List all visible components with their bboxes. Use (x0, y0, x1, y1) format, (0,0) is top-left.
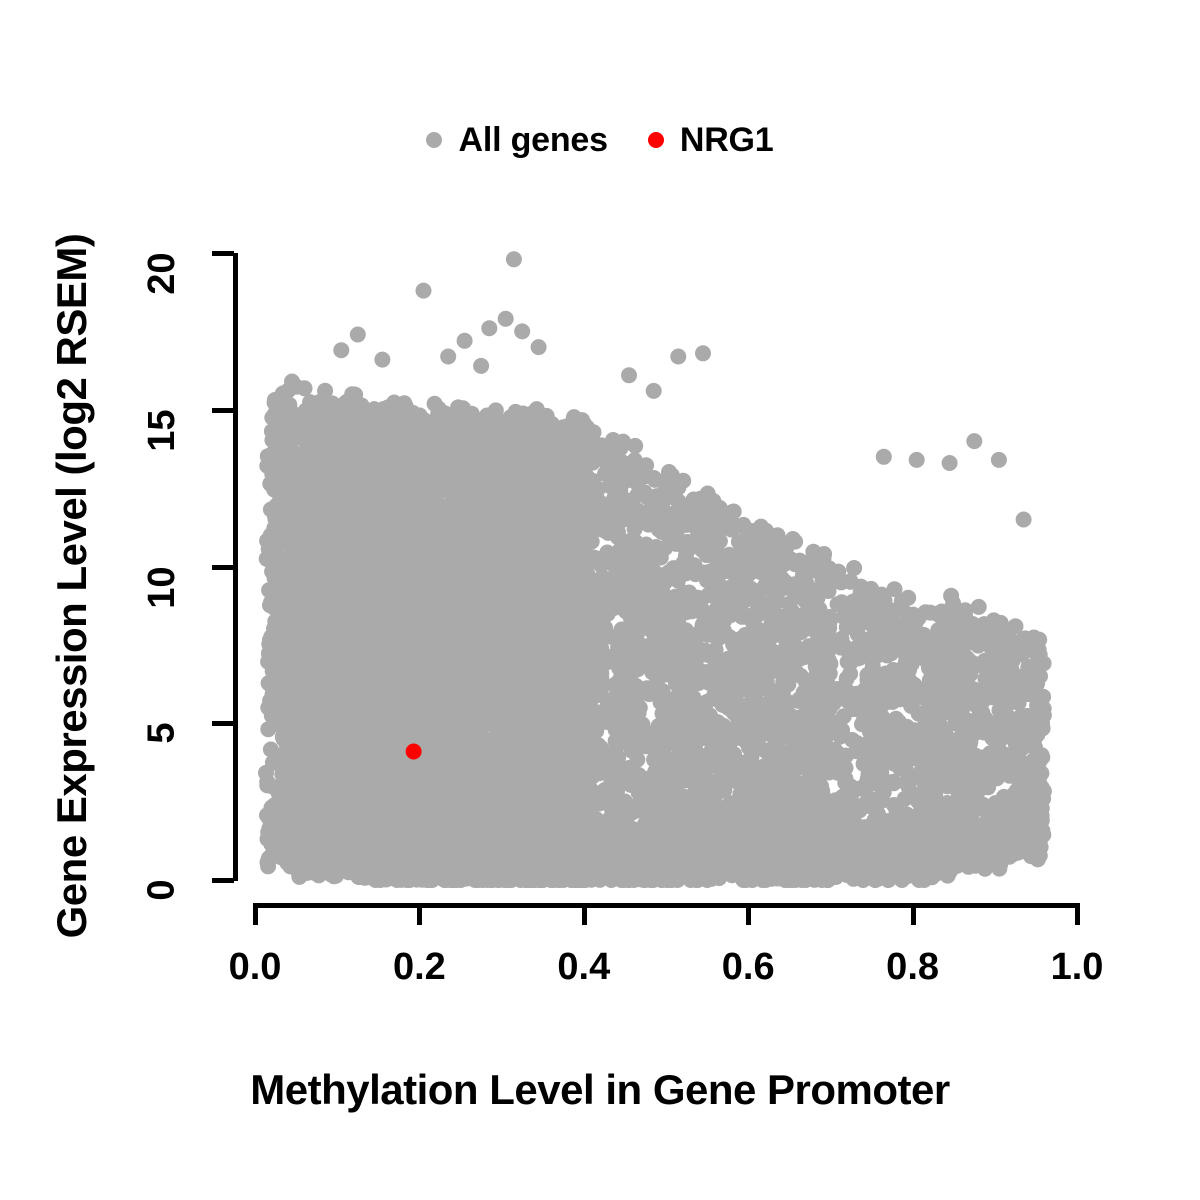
scatter-point-all-genes (627, 438, 643, 454)
plot-region: 05101520 0.00.20.40.60.81.0 Methylation … (0, 0, 1200, 1200)
scatter-point-all-genes (787, 534, 803, 550)
plot-canvas (255, 245, 1077, 890)
scatter-plot-figure: All genes NRG1 05101520 0.00.20.40.60.81… (0, 0, 1200, 1200)
scatter-points-layer (255, 245, 1077, 890)
